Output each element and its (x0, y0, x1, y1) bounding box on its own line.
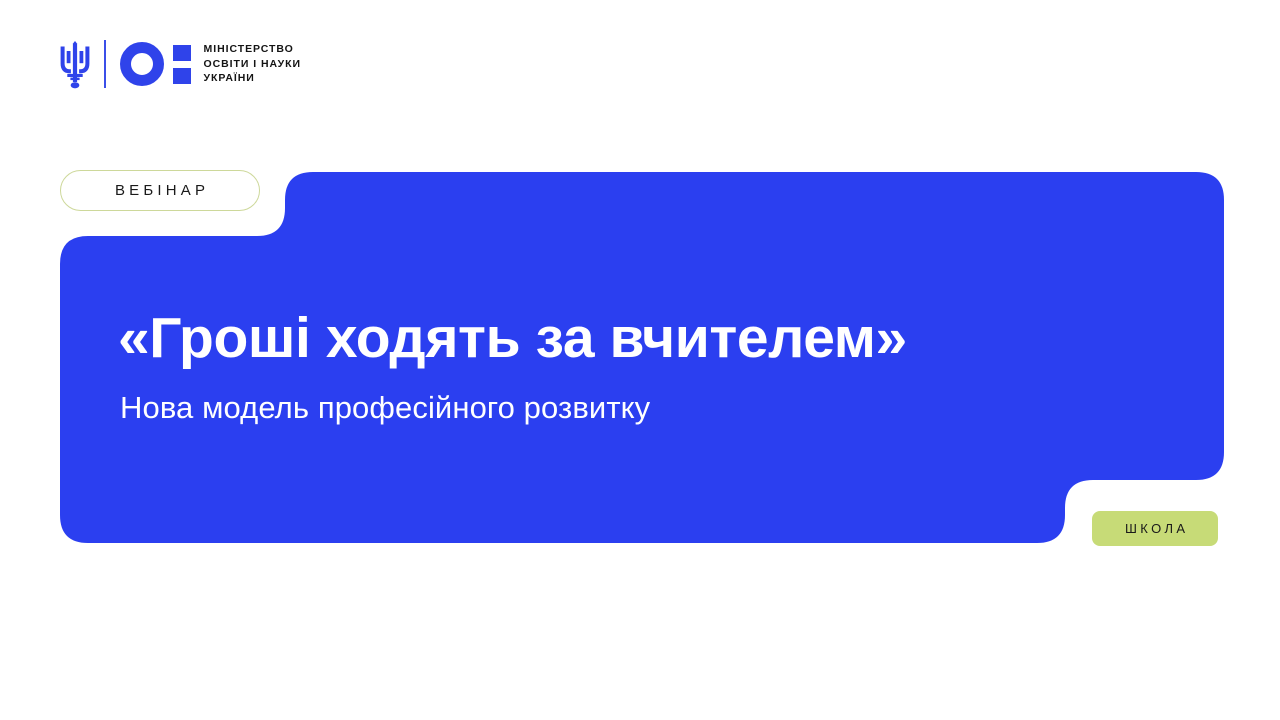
page-title: «Гроші ходять за вчителем» (118, 305, 1118, 371)
mon-square-bottom (173, 68, 191, 84)
badge-webinar: ВЕБІНАР (60, 170, 260, 211)
mon-ring-shape (120, 42, 164, 86)
mon-ring-squares-icon (120, 42, 191, 86)
badge-school: ШКОЛА (1092, 511, 1218, 546)
ministry-name: МІНІСТЕРСТВО ОСВІТИ І НАУКИ УКРАЇНИ (204, 42, 302, 86)
ukraine-trident-icon (58, 38, 92, 90)
mon-squares-shape (173, 45, 191, 84)
page-subtitle: Нова модель професійного розвитку (120, 388, 1120, 428)
mon-square-top (173, 45, 191, 61)
ministry-name-line-1: МІНІСТЕРСТВО (204, 42, 302, 57)
slide-canvas: МІНІСТЕРСТВО ОСВІТИ І НАУКИ УКРАЇНИ ВЕБІ… (0, 0, 1280, 720)
logo-divider (104, 40, 106, 88)
ministry-logo: МІНІСТЕРСТВО ОСВІТИ І НАУКИ УКРАЇНИ (58, 38, 301, 90)
ministry-name-line-3: УКРАЇНИ (204, 71, 302, 86)
ministry-name-line-2: ОСВІТИ І НАУКИ (204, 57, 302, 72)
